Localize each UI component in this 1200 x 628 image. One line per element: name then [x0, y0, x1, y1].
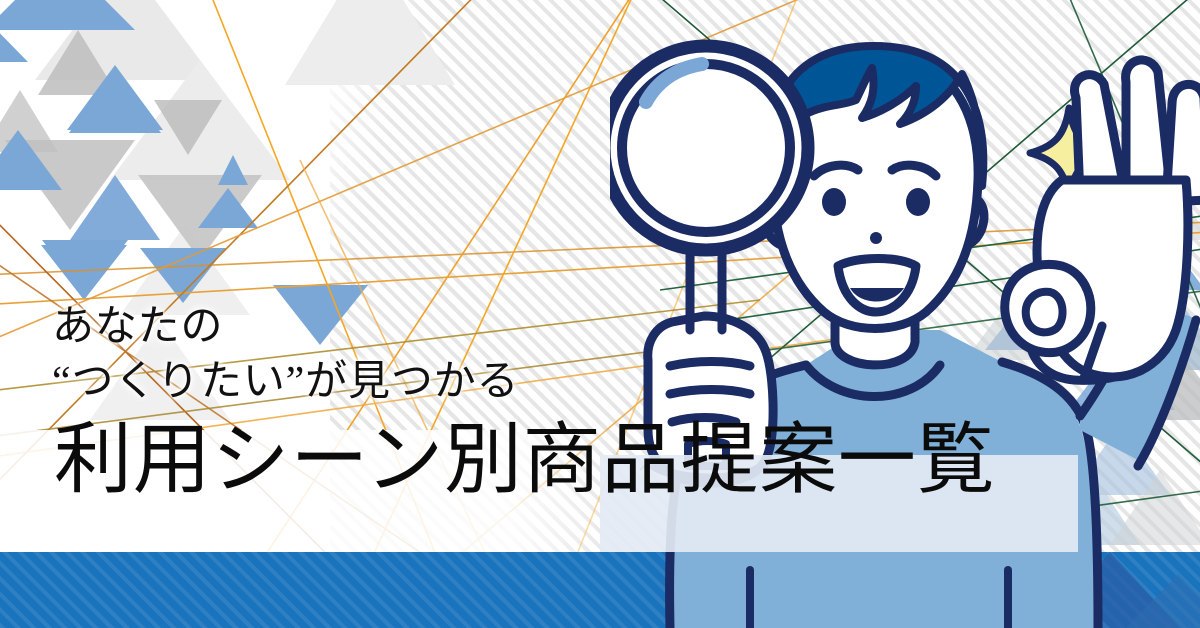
- page-title: 利用シーン別商品提案一覧: [52, 415, 997, 509]
- subtitle-text: あなたの “つくりたい”が見つかる: [52, 300, 1092, 409]
- title-wrapper: 利用シーン別商品提案一覧: [52, 415, 997, 509]
- copy-block: あなたの “つくりたい”が見つかる 利用シーン別商品提案一覧: [52, 300, 1092, 509]
- banner-hero: あなたの “つくりたい”が見つかる 利用シーン別商品提案一覧: [0, 0, 1200, 628]
